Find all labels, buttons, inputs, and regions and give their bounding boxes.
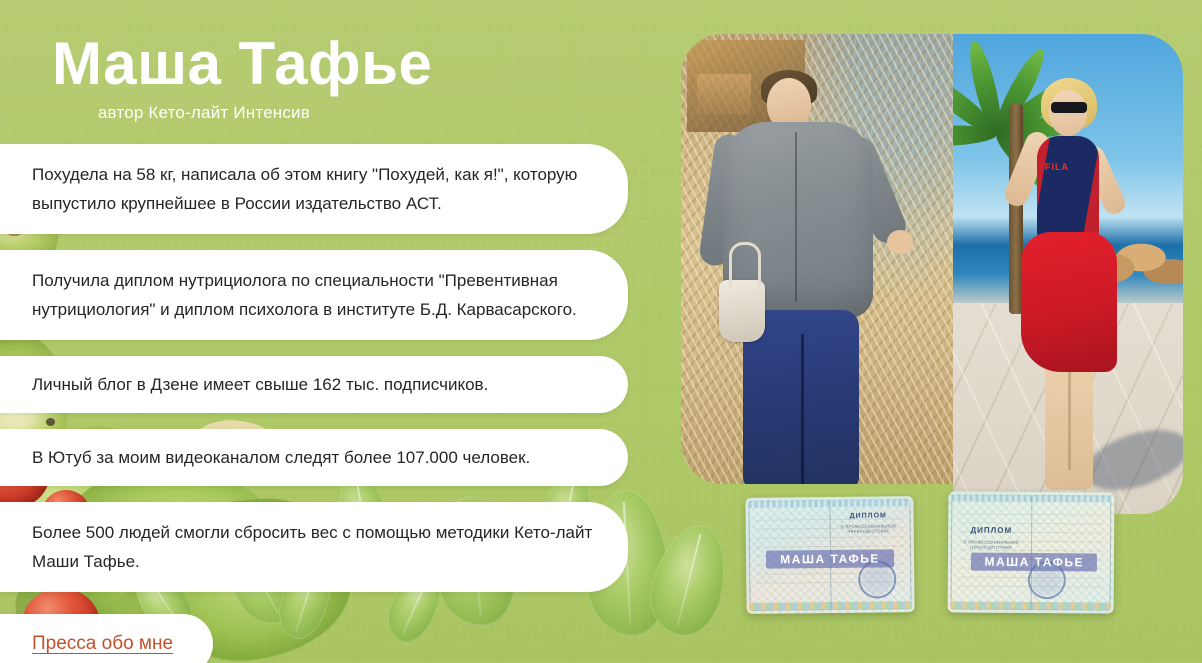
page-subtitle: автор Кето-лайт Интенсив <box>0 102 640 124</box>
diploma-title: ДИПЛОМ <box>958 525 1024 534</box>
before-handbag <box>719 280 765 342</box>
diploma-subtitle: О ПРОФЕССИОНАЛЬНОЙ ПЕРЕПОДГОТОВКЕ <box>833 523 904 534</box>
diploma-certificate: ДИПЛОМ О ПРОФЕССИОНАЛЬНОЙ ПЕРЕПОДГОТОВКЕ… <box>745 496 914 614</box>
before-hand <box>887 230 913 254</box>
promo-banner: Маша Тафье автор Кето-лайт Интенсив Поху… <box>0 0 1202 663</box>
diploma-certificate: ДИПЛОМ О ПРОФЕССИОНАЛЬНОЙ ПЕРЕПОДГОТОВКЕ… <box>948 491 1115 613</box>
after-photo: FILA <box>953 34 1183 514</box>
list-item: Похудела на 58 кг, написала об этом книг… <box>0 144 628 234</box>
after-tied-shirt <box>1021 232 1117 372</box>
page-title: Маша Тафье <box>0 32 640 96</box>
diploma-subtitle: О ПРОФЕССИОНАЛЬНОЙ ПЕРЕПОДГОТОВКЕ <box>958 540 1024 550</box>
list-item: Более 500 людей смогли сбросить вес с по… <box>0 502 628 592</box>
swimsuit-brand-label: FILA <box>1045 162 1069 172</box>
header: Маша Тафье автор Кето-лайт Интенсив <box>0 32 640 124</box>
press-about-me-link[interactable]: Пресса обо мне <box>32 633 173 654</box>
press-link-pill[interactable]: Пресса обо мне <box>0 614 213 663</box>
list-item: Личный блог в Дзене имеет свыше 162 тыс.… <box>0 356 628 413</box>
after-head <box>1049 90 1087 136</box>
photo-collage: FILA <box>681 34 1183 514</box>
list-item: Получила диплом нутрициолога по специаль… <box>0 250 628 340</box>
diploma-title: ДИПЛОМ <box>833 512 904 520</box>
list-item: В Ютуб за моим видеоканалом следят более… <box>0 429 628 486</box>
benefits-list: Похудела на 58 кг, написала об этом книг… <box>0 144 628 663</box>
before-photo <box>681 34 961 484</box>
sunglasses-icon <box>1051 102 1087 113</box>
diploma-watermark: МАША ТАФЬЕ <box>766 550 894 569</box>
diploma-watermark: МАША ТАФЬЕ <box>971 552 1097 571</box>
